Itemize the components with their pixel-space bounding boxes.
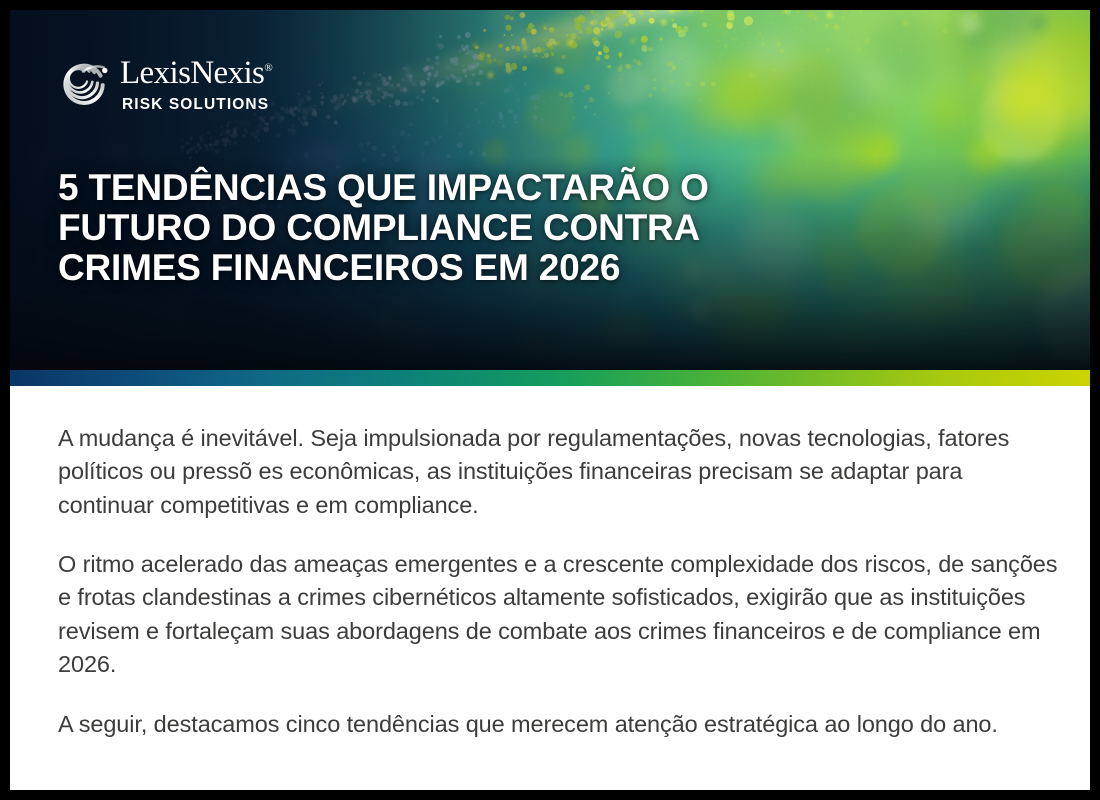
logo-tagline: RISK SOLUTIONS (122, 96, 273, 114)
page-title: 5 TENDÊNCIAS QUE IMPACTARÃO O FUTURO DO … (58, 168, 858, 288)
document-page: LexisNexis® RISK SOLUTIONS 5 TENDÊNCIAS … (0, 0, 1100, 800)
page-title-line-1: 5 TENDÊNCIAS QUE IMPACTARÃO O (58, 168, 858, 208)
body-paragraph-1: A mudança é inevitável. Seja impulsionad… (58, 422, 1060, 522)
page-title-line-2: FUTURO DO COMPLIANCE CONTRA (58, 208, 858, 248)
logo-wordmark-group: LexisNexis® RISK SOLUTIONS (120, 56, 273, 114)
page-title-line-3: CRIMES FINANCEIROS EM 2026 (58, 248, 858, 288)
body-content: A mudança é inevitável. Seja impulsionad… (10, 386, 1090, 790)
hero-banner: LexisNexis® RISK SOLUTIONS 5 TENDÊNCIAS … (10, 10, 1090, 370)
body-paragraph-2: O ritmo acelerado das ameaças emergentes… (58, 548, 1060, 681)
body-paragraph-3: A seguir, destacamos cinco tendências qu… (58, 708, 1060, 741)
logo-wordmark: LexisNexis® (120, 56, 273, 91)
gradient-divider-bar (10, 370, 1090, 386)
logo-wordmark-text: LexisNexis (120, 55, 264, 91)
registered-trademark-icon: ® (264, 62, 272, 74)
lexisnexis-logo[interactable]: LexisNexis® RISK SOLUTIONS (58, 56, 273, 114)
lexisnexis-ring-logo-icon (58, 58, 110, 110)
page-content-frame: LexisNexis® RISK SOLUTIONS 5 TENDÊNCIAS … (10, 10, 1090, 790)
